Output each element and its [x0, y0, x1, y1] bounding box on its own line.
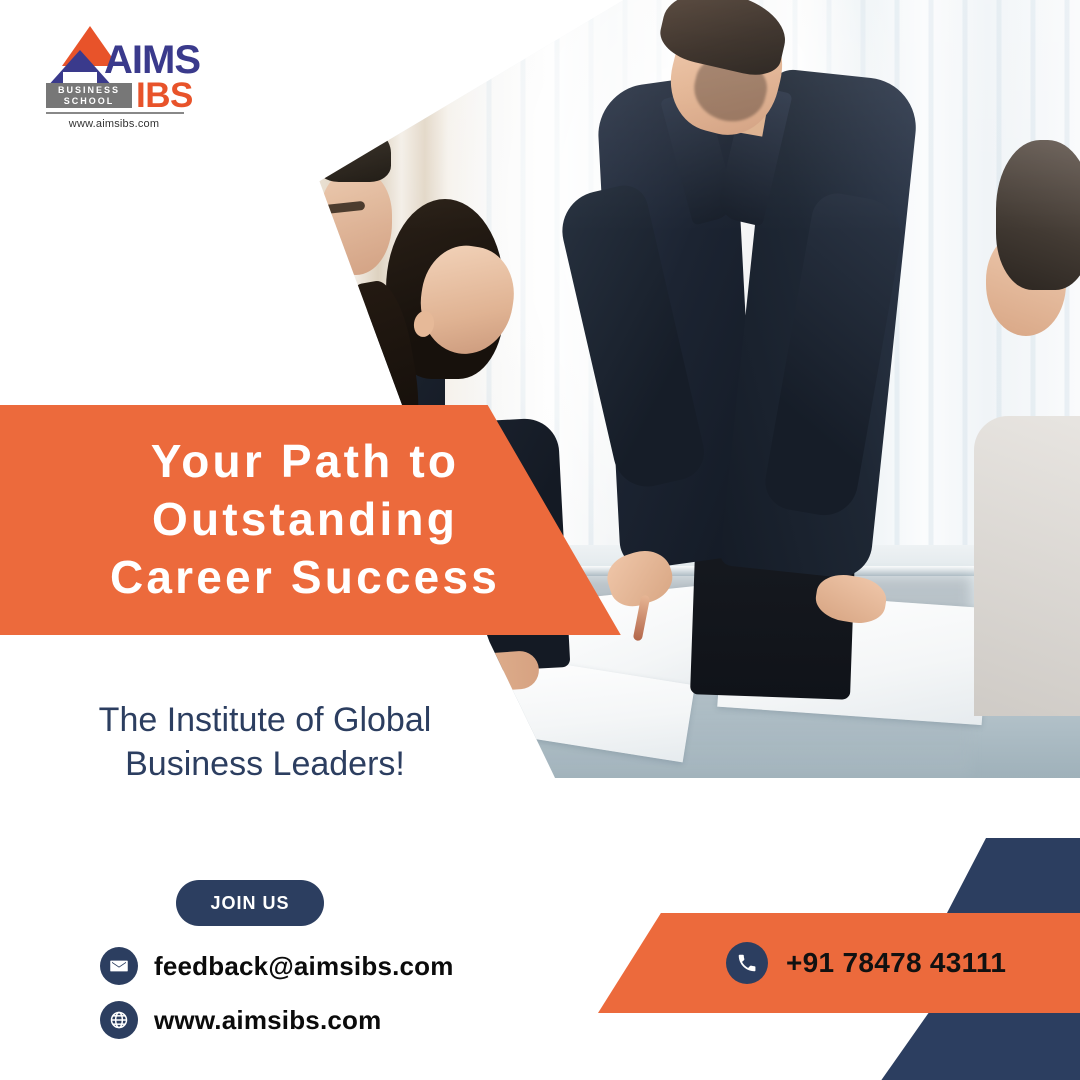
- photo-person-torso: [974, 416, 1080, 716]
- logo-tagline-box: BUSINESS SCHOOL: [46, 83, 132, 108]
- logo-secondary-row: BUSINESS SCHOOL IBS: [44, 82, 184, 110]
- photo-person-cuff: [380, 633, 453, 674]
- globe-icon: [100, 1001, 138, 1039]
- brand-logo[interactable]: AIMS BUSINESS SCHOOL IBS www.aimsibs.com: [44, 26, 184, 110]
- envelope-icon: [100, 947, 138, 985]
- hero-photo-image: [300, 0, 1080, 778]
- photo-person-hair: [315, 124, 391, 182]
- photo-person-hair: [996, 140, 1080, 290]
- logo-tagline-line2: SCHOOL: [46, 96, 132, 107]
- phone-banner-content: +91 78478 43111: [726, 942, 1006, 984]
- contact-email-text: feedback@aimsibs.com: [154, 951, 454, 982]
- logo-primary-text: AIMS: [104, 40, 200, 80]
- contact-website-text: www.aimsibs.com: [154, 1005, 381, 1036]
- photo-person-forearm: [417, 650, 539, 696]
- contact-item-email[interactable]: feedback@aimsibs.com: [100, 947, 454, 985]
- join-us-button[interactable]: JOIN US: [176, 880, 324, 926]
- promotional-poster: AIMS BUSINESS SCHOOL IBS www.aimsibs.com…: [0, 0, 1080, 1080]
- hero-photo: [300, 0, 1080, 778]
- decor-navy-parallelogram-bottom: [880, 1012, 1080, 1080]
- page-subtitle: The Institute of Global Business Leaders…: [55, 698, 475, 786]
- contact-list: feedback@aimsibs.com www.aimsibs.com: [100, 947, 454, 1055]
- photo-person-standing-man: [565, 0, 924, 762]
- phone-banner[interactable]: +91 78478 43111: [598, 913, 1080, 1013]
- logo-divider: [46, 112, 184, 114]
- contact-item-website[interactable]: www.aimsibs.com: [100, 1001, 454, 1039]
- phone-icon: [726, 942, 768, 984]
- logo-secondary-text: IBS: [136, 78, 193, 113]
- logo-tagline-line1: BUSINESS: [46, 85, 132, 96]
- page-title: Your Path to Outstanding Career Success: [70, 433, 540, 607]
- phone-number-text: +91 78478 43111: [786, 947, 1006, 979]
- logo-url-text: www.aimsibs.com: [44, 118, 184, 130]
- photo-person-right-edge: [979, 140, 1080, 716]
